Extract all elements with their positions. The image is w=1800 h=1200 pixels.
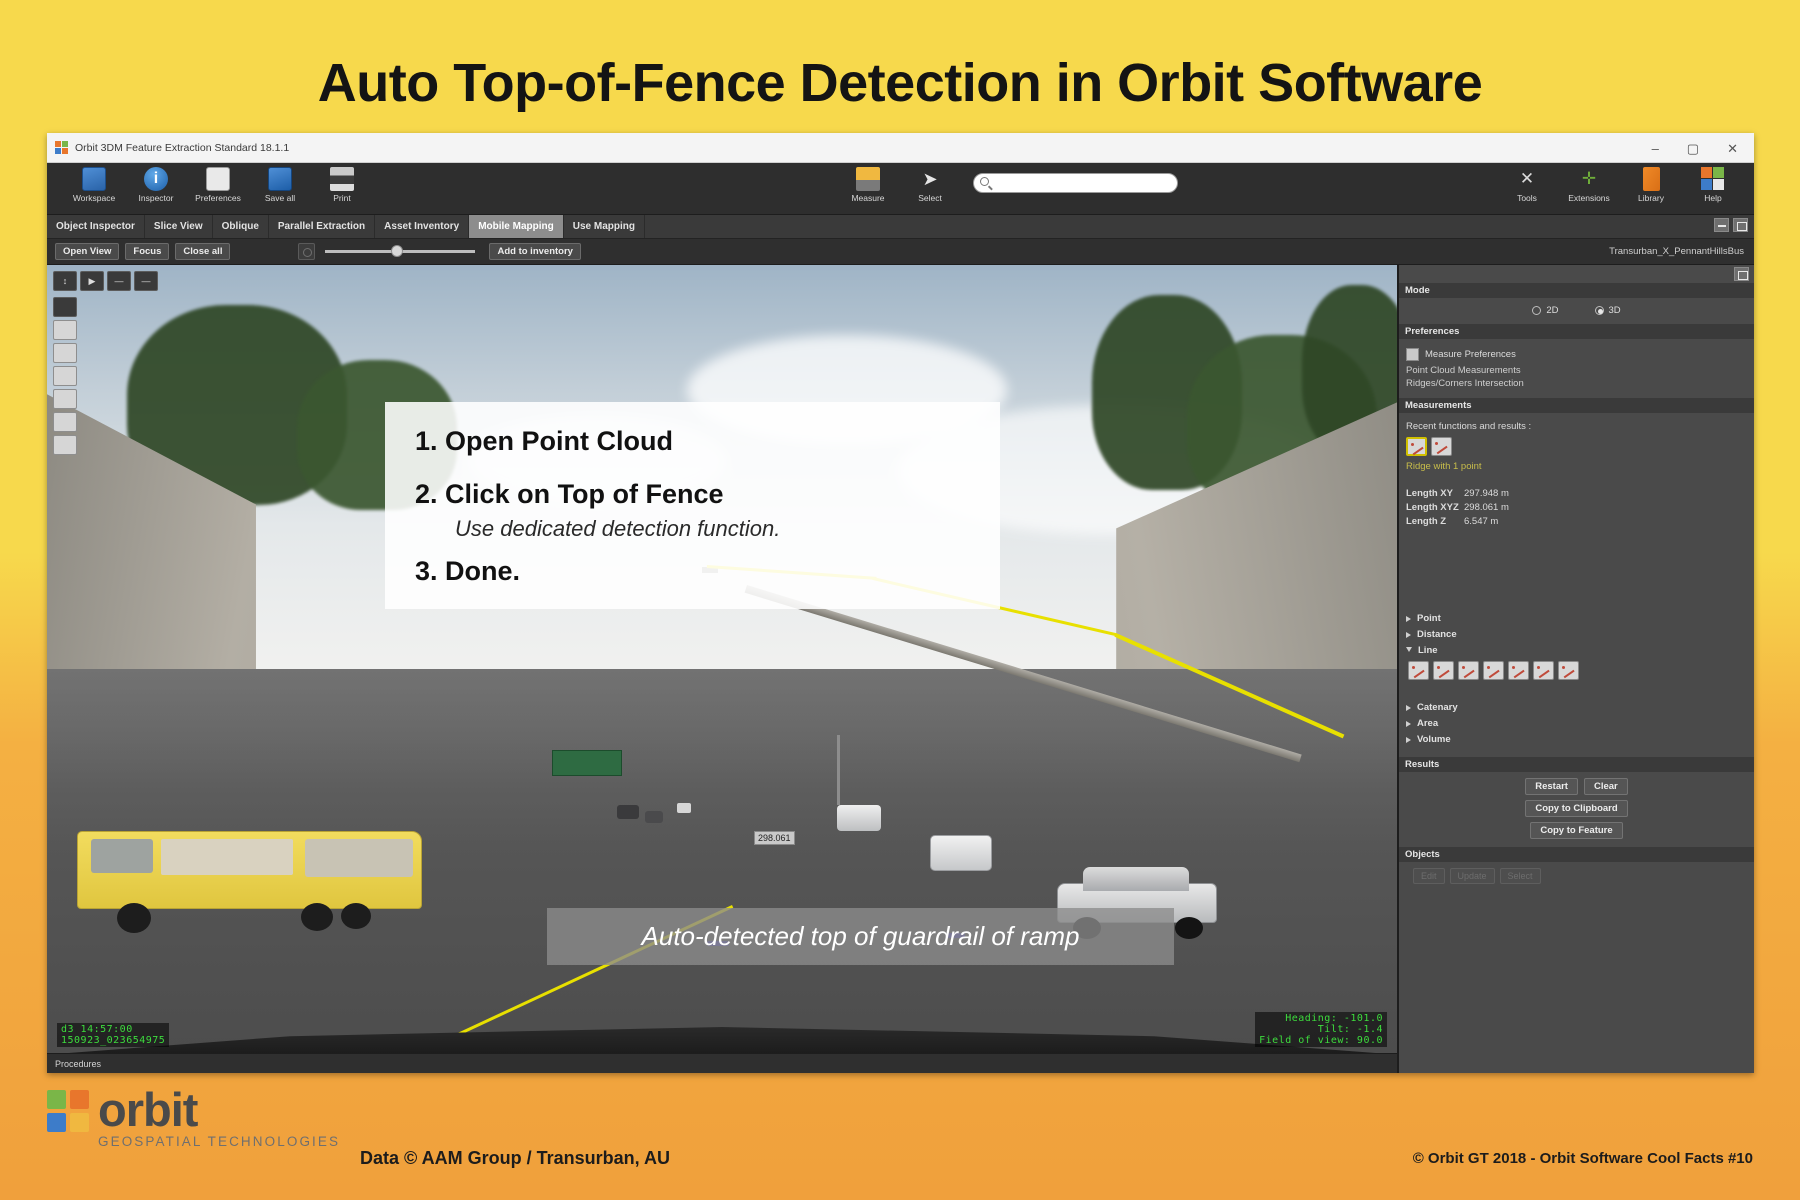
tree-line[interactable]: Line [1406, 645, 1747, 656]
objects-section-header: Objects [1399, 847, 1754, 862]
toolbar-label: Workspace [73, 193, 115, 203]
line-tool-1-icon[interactable] [1408, 661, 1429, 680]
toolbar-button-preferences[interactable]: Preferences [187, 163, 249, 203]
main-toolbar: Workspace i Inspector Preferences Save a… [47, 163, 1754, 215]
snapshot-tool-button[interactable] [53, 412, 77, 432]
toolbar-button-help[interactable]: Help [1682, 163, 1744, 203]
length-z-value: 6.547 m [1464, 516, 1498, 527]
tab-bar: Object Inspector Slice View Oblique Para… [47, 215, 1754, 239]
zoom-tool-button[interactable] [53, 320, 77, 340]
toolbar-button-print[interactable]: Print [311, 163, 373, 203]
step-back-button[interactable]: — [107, 271, 131, 291]
mode-3d-label: 3D [1609, 305, 1621, 316]
close-all-button[interactable]: Close all [175, 243, 230, 260]
results-buttons: Restart Clear Copy to Clipboard Copy to … [1399, 772, 1754, 847]
toolbar-left-group: Workspace i Inspector Preferences Save a… [47, 163, 373, 203]
opacity-slider[interactable] [325, 250, 475, 253]
length-z-row: Length Z 6.547 m [1406, 516, 1747, 527]
ridges-corners-intersection-link[interactable]: Ridges/Corners Intersection [1406, 378, 1747, 389]
tab-oblique[interactable]: Oblique [213, 215, 269, 238]
toolbar-center-group: Measure ➤ Select [837, 163, 1178, 203]
extensions-icon: ✛ [1577, 167, 1601, 191]
chevron-down-icon [1406, 647, 1412, 655]
transparency-icon[interactable] [298, 243, 315, 260]
line-tool-4-icon[interactable] [1483, 661, 1504, 680]
workspace-icon [82, 167, 106, 191]
toolbar-right-group: ✕ Tools ✛ Extensions Library Help [1496, 163, 1744, 203]
measurement-value-label: 298.061 [754, 831, 795, 845]
measurement-panel: Mode 2D 3D Preferences Measure Preferenc… [1397, 265, 1754, 1073]
tab-parallel-extraction[interactable]: Parallel Extraction [269, 215, 375, 238]
mode-section-header: Mode [1399, 283, 1754, 298]
measure-preferences-row[interactable]: Measure Preferences [1406, 348, 1747, 361]
step-1-number: 1. [415, 426, 438, 456]
measurements-section-header: Measurements [1399, 398, 1754, 413]
data-credit: Data © AAM Group / Transurban, AU [360, 1148, 670, 1169]
viewer-side-tools [53, 297, 79, 458]
restart-button[interactable]: Restart [1525, 778, 1578, 795]
preferences-icon [206, 167, 230, 191]
objects-buttons: Edit Update Select [1399, 862, 1754, 884]
play-tool-button[interactable]: ▶ [80, 271, 104, 291]
distant-car-1 [617, 805, 639, 819]
tree-distance[interactable]: Distance [1406, 629, 1747, 640]
step-3-text: Done. [445, 556, 520, 586]
step-forward-button[interactable]: — [134, 271, 158, 291]
mode-radio-group: 2D 3D [1399, 298, 1754, 324]
chevron-right-icon [1406, 632, 1411, 638]
tree-point-label: Point [1417, 613, 1441, 624]
asset-name-label: Transurban_X_PennantHillsBus [1609, 246, 1744, 257]
mobile-mapping-viewer[interactable]: 298.061 ↕ ▶ — — 1. Open P [47, 265, 1397, 1073]
measure-icon [856, 167, 880, 191]
tree-area[interactable]: Area [1406, 718, 1747, 729]
light-pole [837, 735, 840, 805]
app-window: Orbit 3DM Feature Extraction Standard 18… [47, 133, 1754, 1073]
toolbar-button-inspector[interactable]: i Inspector [125, 163, 187, 203]
caption-text: Auto-detected top of guardrail of ramp [642, 921, 1080, 951]
minimize-button[interactable]: – [1652, 142, 1659, 155]
toolbar-label: Measure [851, 193, 884, 203]
toolbar-label: Save all [265, 193, 295, 203]
objects-edit-button[interactable]: Edit [1413, 868, 1445, 884]
search-icon [980, 177, 989, 186]
toolbar-label: Print [333, 193, 350, 203]
search-input[interactable] [973, 173, 1178, 193]
toolbar-button-workspace[interactable]: Workspace [63, 163, 125, 203]
layers-tool-button[interactable] [53, 366, 77, 386]
window-title: Orbit 3DM Feature Extraction Standard 18… [75, 142, 289, 154]
chevron-right-icon [1406, 616, 1411, 622]
tree-distance-label: Distance [1417, 629, 1457, 640]
orbit-logo-mark-icon [47, 1090, 89, 1132]
hud-heading: Heading: -101.0 [1259, 1013, 1383, 1024]
length-xyz-value: 298.061 m [1464, 502, 1509, 513]
action-bar: Open View Focus Close all Add to invento… [47, 239, 1754, 265]
hud-left: d3 14:57:00 150923_023654975 [57, 1023, 169, 1047]
chevron-right-icon [1406, 737, 1411, 743]
toolbar-button-tools[interactable]: ✕ Tools [1496, 163, 1558, 203]
hud-field-of-view: Field of view: 90.0 [1259, 1035, 1383, 1046]
toolbar-label: Library [1638, 193, 1664, 203]
length-z-label: Length Z [1406, 516, 1464, 527]
step-2-number: 2. [415, 479, 438, 509]
van-vehicle [930, 835, 992, 871]
save-icon [268, 167, 292, 191]
tree-volume-label: Volume [1417, 734, 1451, 745]
tab-use-mapping[interactable]: Use Mapping [564, 215, 645, 238]
title-bar: Orbit 3DM Feature Extraction Standard 18… [47, 133, 1754, 163]
line-tool-5-icon[interactable] [1508, 661, 1529, 680]
length-xyz-label: Length XYZ [1406, 502, 1464, 513]
page-title: Auto Top-of-Fence Detection in Orbit Sof… [0, 52, 1800, 114]
viewer-top-tools: ↕ ▶ — — [53, 271, 158, 291]
objects-select-button[interactable]: Select [1500, 868, 1541, 884]
radio-2d-icon [1532, 306, 1541, 315]
tree-line-label: Line [1418, 645, 1438, 656]
help-icon [1701, 167, 1725, 191]
step-2: 2. Click on Top of Fence [415, 479, 970, 510]
road-sign [552, 750, 622, 776]
info-tool-button[interactable] [53, 435, 77, 455]
slider-knob[interactable] [391, 245, 403, 257]
line-tool-3-icon[interactable] [1458, 661, 1479, 680]
info-icon: i [144, 167, 168, 191]
tree-catenary-label: Catenary [1417, 702, 1458, 713]
distant-car-3 [677, 803, 691, 813]
toolbar-label: Help [1704, 193, 1721, 203]
line-tool-icons [1408, 661, 1747, 680]
tree-area-label: Area [1417, 718, 1438, 729]
tab-asset-inventory[interactable]: Asset Inventory [375, 215, 469, 238]
steps-callout: 1. Open Point Cloud 2. Click on Top of F… [385, 402, 1000, 609]
tab-mobile-mapping[interactable]: Mobile Mapping [469, 215, 564, 238]
step-3-number: 3. [415, 556, 438, 586]
copyright-notice: © Orbit GT 2018 - Orbit Software Cool Fa… [1413, 1150, 1753, 1167]
line-tool-6-icon[interactable] [1533, 661, 1554, 680]
distant-car-2 [645, 811, 663, 823]
close-button[interactable]: ✕ [1727, 142, 1738, 155]
preferences-section-header: Preferences [1399, 324, 1754, 339]
caption-callout: Auto-detected top of guardrail of ramp [547, 908, 1174, 965]
point-cloud-measurements-link[interactable]: Point Cloud Measurements [1406, 365, 1747, 376]
toolbar-label: Preferences [195, 193, 241, 203]
step-2-subtext: Use dedicated detection function. [455, 516, 970, 542]
copy-to-feature-button[interactable]: Copy to Feature [1530, 822, 1622, 839]
hud-timestamp: d3 14:57:00 [61, 1024, 165, 1035]
toolbar-label: Extensions [1568, 193, 1610, 203]
logo-tagline: GEOSPATIAL TECHNOLOGIES [98, 1134, 340, 1149]
print-icon [330, 167, 354, 191]
chevron-right-icon [1406, 721, 1411, 727]
panel-popout-button[interactable] [1734, 267, 1749, 281]
tab-slice-view[interactable]: Slice View [145, 215, 213, 238]
toolbar-label: Inspector [139, 193, 174, 203]
hud-right: Heading: -101.0 Tilt: -1.4 Field of view… [1255, 1012, 1387, 1047]
step-1-text: Open Point Cloud [445, 426, 673, 456]
orbit-brand-logo: orbit GEOSPATIAL TECHNOLOGIES [47, 1090, 340, 1149]
clear-button[interactable]: Clear [1584, 778, 1628, 795]
recent-functions-label: Recent functions and results : [1406, 421, 1747, 432]
line-tool-7-icon[interactable] [1558, 661, 1579, 680]
orbit-logo-icon [55, 141, 68, 154]
focus-button[interactable]: Focus [125, 243, 169, 260]
radio-3d-icon [1595, 306, 1604, 315]
chevron-right-icon [1406, 705, 1411, 711]
toolbar-label: Select [918, 193, 942, 203]
step-2-text: Click on Top of Fence [445, 479, 724, 509]
mode-radio-3d[interactable]: 3D [1595, 305, 1621, 316]
hud-tilt: Tilt: -1.4 [1259, 1024, 1383, 1035]
tree-catenary[interactable]: Catenary [1406, 702, 1747, 713]
panel-minimize-button[interactable] [1714, 218, 1729, 232]
bus-vehicle [77, 825, 422, 935]
recent-ridge-icon[interactable] [1406, 437, 1427, 456]
toolbar-button-library[interactable]: Library [1620, 163, 1682, 203]
toolbar-button-save-all[interactable]: Save all [249, 163, 311, 203]
step-3: 3. Done. [415, 556, 970, 587]
objects-update-button[interactable]: Update [1450, 868, 1495, 884]
recent-function-icons [1406, 437, 1747, 456]
mode-radio-2d[interactable]: 2D [1532, 305, 1558, 316]
toolbar-button-measure[interactable]: Measure [837, 163, 899, 203]
length-xyz-row: Length XYZ 298.061 m [1406, 502, 1747, 513]
library-icon [1643, 167, 1660, 191]
length-xy-row: Length XY 297.948 m [1406, 488, 1747, 499]
toolbar-button-select[interactable]: ➤ Select [899, 163, 961, 203]
cursor-icon: ➤ [918, 167, 942, 191]
pan-tool-button[interactable] [53, 297, 77, 317]
hud-frame-id: 150923_023654975 [61, 1035, 165, 1046]
results-section-header: Results [1399, 757, 1754, 772]
length-xy-value: 297.948 m [1464, 488, 1509, 499]
open-view-button[interactable]: Open View [55, 243, 119, 260]
workspace-body: 298.061 ↕ ▶ — — 1. Open P [47, 265, 1754, 1073]
add-to-inventory-button[interactable]: Add to inventory [489, 243, 580, 260]
tab-object-inspector[interactable]: Object Inspector [47, 215, 145, 238]
recent-line-icon[interactable] [1431, 437, 1452, 456]
settings-tool-button[interactable] [53, 389, 77, 409]
copy-to-clipboard-button[interactable]: Copy to Clipboard [1525, 800, 1627, 817]
truck-vehicle [837, 805, 881, 831]
measure-preferences-label: Measure Preferences [1425, 349, 1516, 360]
navigate-tool-button[interactable]: ↕ [53, 271, 77, 291]
rotate-tool-button[interactable] [53, 343, 77, 363]
mode-2d-label: 2D [1546, 305, 1558, 316]
logo-wordmark: orbit [98, 1090, 340, 1130]
status-text: Procedures [55, 1059, 101, 1069]
maximize-button[interactable]: ▢ [1687, 142, 1699, 155]
tree-point[interactable]: Point [1406, 613, 1747, 624]
ridge-result-label: Ridge with 1 point [1406, 461, 1747, 472]
panel-maximize-button[interactable] [1733, 218, 1748, 232]
toolbar-button-extensions[interactable]: ✛ Extensions [1558, 163, 1620, 203]
tree-volume[interactable]: Volume [1406, 734, 1747, 745]
line-tool-2-icon[interactable] [1433, 661, 1454, 680]
step-1: 1. Open Point Cloud [415, 426, 970, 457]
length-xy-label: Length XY [1406, 488, 1464, 499]
preferences-gear-icon [1406, 348, 1419, 361]
toolbar-label: Tools [1517, 193, 1537, 203]
status-bar: Procedures [47, 1053, 1397, 1073]
tools-icon: ✕ [1515, 167, 1539, 191]
